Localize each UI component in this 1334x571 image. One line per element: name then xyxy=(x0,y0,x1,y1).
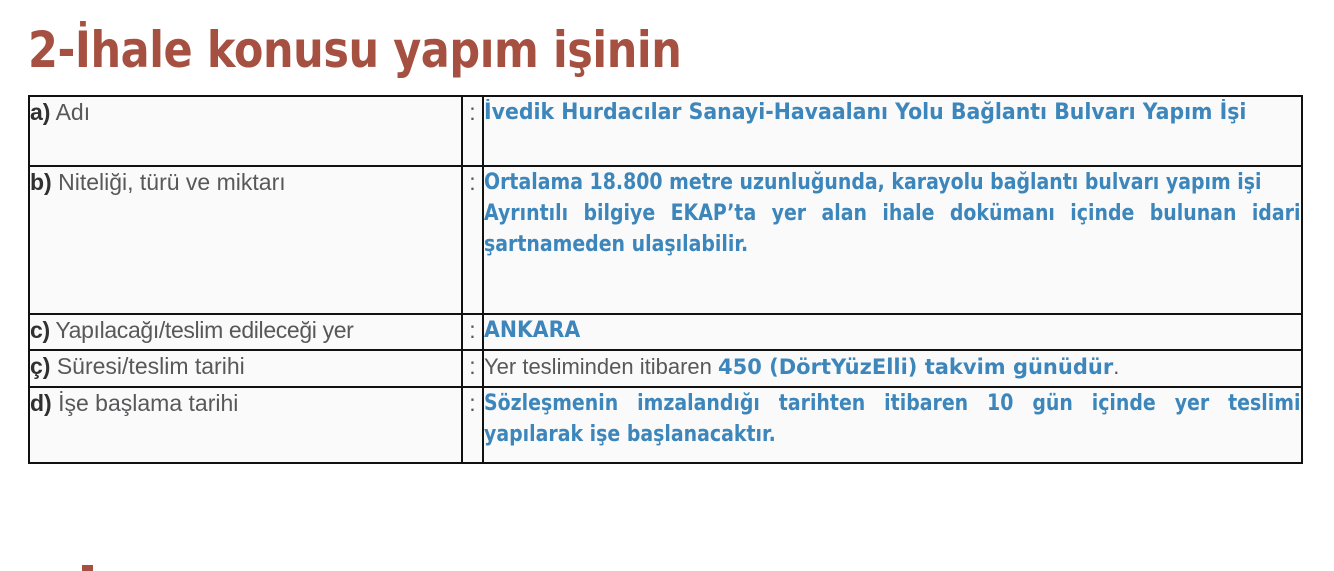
row-colon-cell-c: : xyxy=(462,314,483,350)
document-page: 2-İhale konusu yapım işinin a) Adı : İve… xyxy=(0,0,1334,570)
row-label-cell-d: d) İşe başlama tarihi xyxy=(29,387,462,463)
row-value-cc-highlight: 450 (DörtYüzElli) takvim günüdür xyxy=(718,355,1113,379)
row-colon-cell-b: : xyxy=(462,166,483,314)
row-label-cc: ç) Süresi/teslim tarihi xyxy=(30,351,461,381)
row-label-text-b: Niteliği, türü ve miktarı xyxy=(58,169,286,195)
row-label-cell-a: a) Adı xyxy=(29,96,462,166)
row-marker-c: c) xyxy=(30,317,50,343)
row-value-a: İvedik Hurdacılar Sanayi-Havaalanı Yolu … xyxy=(484,97,1301,128)
row-marker-a: a) xyxy=(30,99,50,125)
row-value-cc-prefix: Yer tesliminden itibaren xyxy=(484,354,718,379)
row-label-text-d: İşe başlama tarihi xyxy=(58,390,238,416)
row-label-cell-c: c) Yapılacağı/teslim edileceği yer xyxy=(29,314,462,350)
colon-separator: : xyxy=(469,390,475,416)
row-marker-cc: ç) xyxy=(30,353,50,379)
row-colon-cell-cc: : xyxy=(462,350,483,387)
row-label-c: c) Yapılacağı/teslim edileceği yer xyxy=(30,315,461,345)
row-label-a: a) Adı xyxy=(30,97,461,127)
spec-table-wrapper: a) Adı : İvedik Hurdacılar Sanayi-Havaal… xyxy=(28,95,1301,464)
table-row: d) İşe başlama tarihi : Sözleşmenin imza… xyxy=(29,387,1302,463)
row-value-cc-suffix: . xyxy=(1113,354,1119,379)
row-value-cell-c: ANKARA xyxy=(483,314,1302,350)
cut-off-heading-fragment xyxy=(82,565,93,571)
page-title: 2-İhale konusu yapım işinin xyxy=(28,22,1129,78)
row-value-cell-b: Ortalama 18.800 metre uzunluğunda, karay… xyxy=(483,166,1302,314)
row-value-cell-cc: Yer tesliminden itibaren 450 (DörtYüzEll… xyxy=(483,350,1302,387)
row-marker-d: d) xyxy=(30,390,52,416)
row-value-d: Sözleşmenin imzalandığı tarihten itibare… xyxy=(484,388,1300,450)
table-row: ç) Süresi/teslim tarihi : Yer tesliminde… xyxy=(29,350,1302,387)
spec-table: a) Adı : İvedik Hurdacılar Sanayi-Havaal… xyxy=(28,95,1303,464)
row-colon-cell-a: : xyxy=(462,96,483,166)
row-value-cell-d: Sözleşmenin imzalandığı tarihten itibare… xyxy=(483,387,1302,463)
table-row: c) Yapılacağı/teslim edileceği yer : ANK… xyxy=(29,314,1302,350)
row-label-cell-cc: ç) Süresi/teslim tarihi xyxy=(29,350,462,387)
row-label-text-cc: Süresi/teslim tarihi xyxy=(57,353,245,379)
row-marker-b: b) xyxy=(30,169,52,195)
row-label-b: b) Niteliği, türü ve miktarı xyxy=(30,167,461,197)
colon-separator: : xyxy=(469,353,475,379)
row-value-cc: Yer tesliminden itibaren 450 (DörtYüzEll… xyxy=(484,351,1301,383)
row-label-d: d) İşe başlama tarihi xyxy=(30,388,461,418)
colon-separator: : xyxy=(469,169,475,195)
table-row: a) Adı : İvedik Hurdacılar Sanayi-Havaal… xyxy=(29,96,1302,166)
row-value-b-line1: Ortalama 18.800 metre uzunluğunda, karay… xyxy=(484,167,1300,198)
colon-separator: : xyxy=(469,99,475,125)
row-value-b-line2: Ayrıntılı bilgiye EKAP’ta yer alan ihale… xyxy=(484,198,1300,260)
row-label-cell-b: b) Niteliği, türü ve miktarı xyxy=(29,166,462,314)
row-value-cell-a: İvedik Hurdacılar Sanayi-Havaalanı Yolu … xyxy=(483,96,1302,166)
colon-separator: : xyxy=(469,317,475,343)
row-label-text-a: Adı xyxy=(56,99,91,125)
row-value-c: ANKARA xyxy=(484,315,1301,346)
row-colon-cell-d: : xyxy=(462,387,483,463)
row-label-text-c: Yapılacağı/teslim edileceği yer xyxy=(55,317,353,343)
table-row: b) Niteliği, türü ve miktarı : Ortalama … xyxy=(29,166,1302,314)
